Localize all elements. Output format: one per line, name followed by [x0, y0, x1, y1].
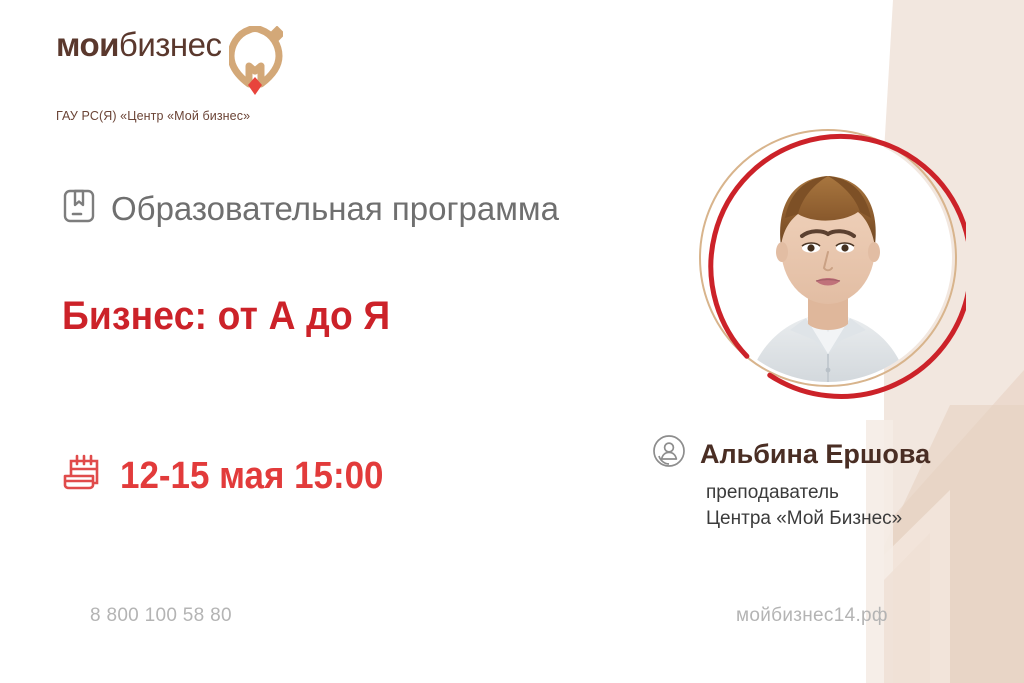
promo-poster: моибизнес ГАУ РС(Я) «Центр «Мой бизнес» … [0, 0, 1024, 683]
schedule-line: 12-15 мая 15:00 [62, 452, 406, 499]
speaker-role-line2: Центра «Мой Бизнес» [706, 506, 902, 532]
page-title: Бизнес: от А до Я [62, 292, 390, 340]
speaker-name-row: Альбина Ершова [652, 434, 930, 473]
speaker-role: преподаватель Центра «Мой Бизнес» [706, 480, 902, 532]
beige-shape-parallelogram-b [890, 370, 1024, 683]
speaker-name: Альбина Ершова [700, 438, 930, 470]
logo-word-bold: мои [56, 26, 119, 63]
logo-word-regular: бизнес [119, 26, 222, 63]
program-line: Образовательная программа [62, 188, 559, 229]
footer-phone[interactable]: 8 800 100 58 80 [90, 603, 232, 629]
logo[interactable]: моибизнес ГАУ РС(Я) «Центр «Мой бизнес» [56, 26, 356, 124]
schedule-text: 12-15 мая 15:00 [120, 453, 384, 499]
person-circle-icon [652, 434, 686, 473]
logo-wordmark: моибизнес [56, 26, 221, 63]
program-label: Образовательная программа [111, 189, 559, 229]
calendar-icon [62, 452, 104, 499]
portrait-photo [690, 118, 966, 400]
rocket-pin-icon [229, 26, 283, 103]
logo-row: моибизнес [56, 26, 356, 103]
beige-shape-bottom-notch [884, 533, 930, 683]
book-bookmark-icon [62, 188, 96, 229]
speaker-portrait [690, 118, 966, 400]
logo-word-line: моибизнес [56, 26, 221, 63]
logo-tagline: ГАУ РС(Я) «Центр «Мой бизнес» [56, 108, 356, 124]
footer-website[interactable]: мойбизнес14.рф [736, 603, 888, 629]
speaker-role-line1: преподаватель [706, 480, 902, 506]
